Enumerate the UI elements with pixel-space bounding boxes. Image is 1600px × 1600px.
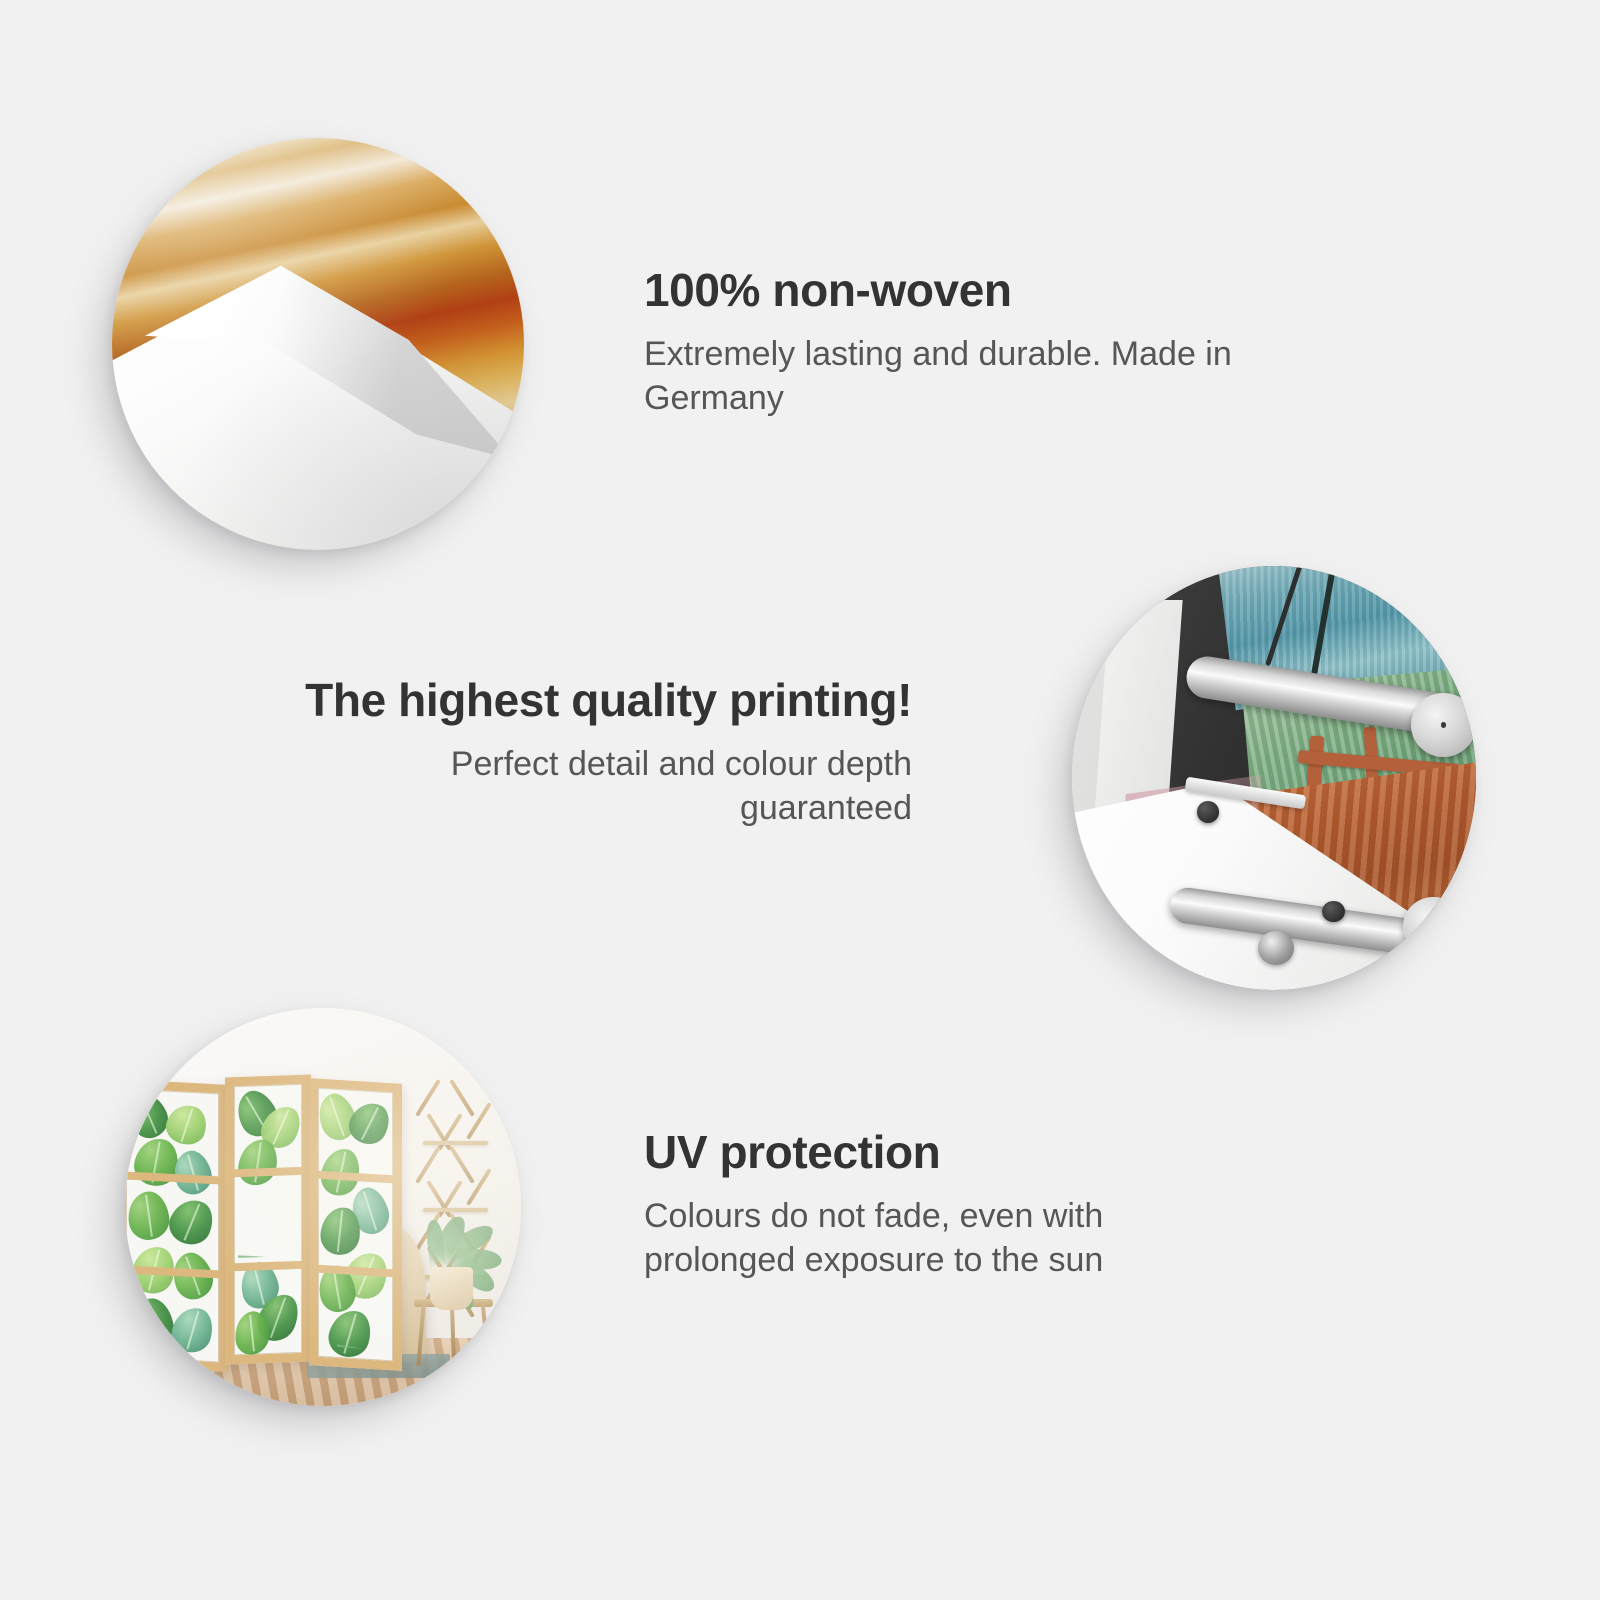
non-woven-description: Extremely lasting and durable. Made in G… bbox=[644, 333, 1324, 421]
printing-press-photo bbox=[1072, 566, 1476, 990]
printing-text-block: The highest quality printing! Perfect de… bbox=[300, 676, 912, 830]
printing-title: The highest quality printing! bbox=[300, 676, 912, 726]
non-woven-image bbox=[112, 138, 524, 550]
press-disc-top-right bbox=[1411, 693, 1476, 757]
non-woven-text-block: 100% non-woven Extremely lasting and dur… bbox=[644, 266, 1324, 420]
press-knob-a bbox=[1197, 801, 1219, 822]
non-woven-title: 100% non-woven bbox=[644, 266, 1324, 316]
feature-infographic: 100% non-woven Extremely lasting and dur… bbox=[0, 0, 1600, 1600]
tropical-room-divider-photo bbox=[125, 1008, 521, 1406]
wallpaper-shading bbox=[112, 138, 524, 550]
press-bolt bbox=[1258, 931, 1294, 965]
uv-protection-text-block: UV protection Colours do not fade, even … bbox=[644, 1128, 1204, 1282]
printing-image bbox=[1072, 566, 1476, 990]
uv-protection-description: Colours do not fade, even with prolonged… bbox=[644, 1195, 1204, 1283]
room-light-glow bbox=[125, 1008, 521, 1406]
press-knob-b bbox=[1322, 901, 1344, 922]
peeling-wallpaper-sheet-photo bbox=[112, 138, 524, 550]
uv-protection-title: UV protection bbox=[644, 1128, 1204, 1178]
printing-description: Perfect detail and colour depth guarante… bbox=[300, 743, 912, 831]
uv-protection-image bbox=[125, 1008, 521, 1406]
press-disc-bottom-right bbox=[1403, 897, 1464, 956]
